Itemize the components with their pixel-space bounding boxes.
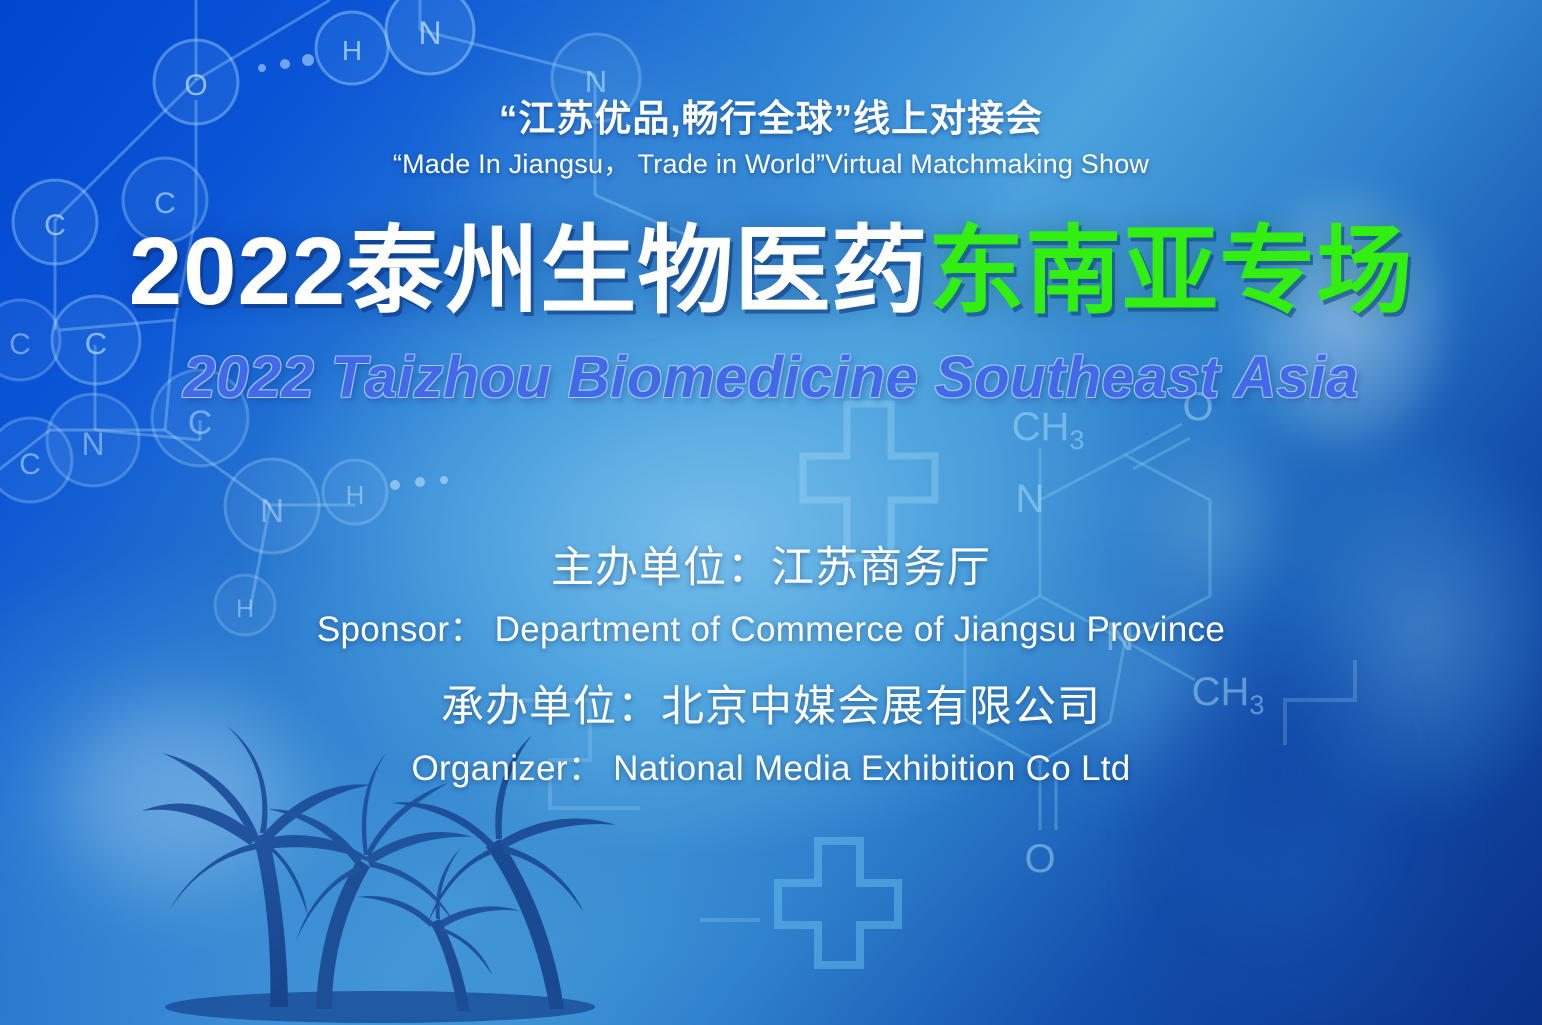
title-main-white: 2022泰州生物医药 xyxy=(129,218,929,325)
kicker-english: “Made In Jiangsu， Trade in World”Virtual… xyxy=(0,142,1542,181)
title-accent-green: 东南亚专场 xyxy=(928,218,1413,325)
title-subtitle-english: 2022 Taizhou Biomedicine Southeast Asia xyxy=(0,344,1542,411)
sponsor-english: Sponsor： Department of Commerce of Jiang… xyxy=(0,601,1542,652)
organizer-block: 承办单位：北京中媒会展有限公司 Organizer： National Medi… xyxy=(0,672,1542,791)
kicker-chinese: “江苏优品,畅行全球”线上对接会 xyxy=(0,88,1542,142)
banner-content: “江苏优品,畅行全球”线上对接会 “Made In Jiangsu， Trade… xyxy=(0,0,1542,1025)
sponsor-chinese: 主办单位：江苏商务厅 xyxy=(0,533,1542,595)
organizer-english: Organizer： National Media Exhibition Co … xyxy=(0,740,1542,791)
sponsor-block: 主办单位：江苏商务厅 Sponsor： Department of Commer… xyxy=(0,533,1542,652)
organizer-chinese: 承办单位：北京中媒会展有限公司 xyxy=(0,672,1542,734)
promotional-banner: N H O C C C N C N xyxy=(0,0,1542,1025)
page-title: 2022泰州生物医药东南亚专场 xyxy=(0,218,1542,326)
